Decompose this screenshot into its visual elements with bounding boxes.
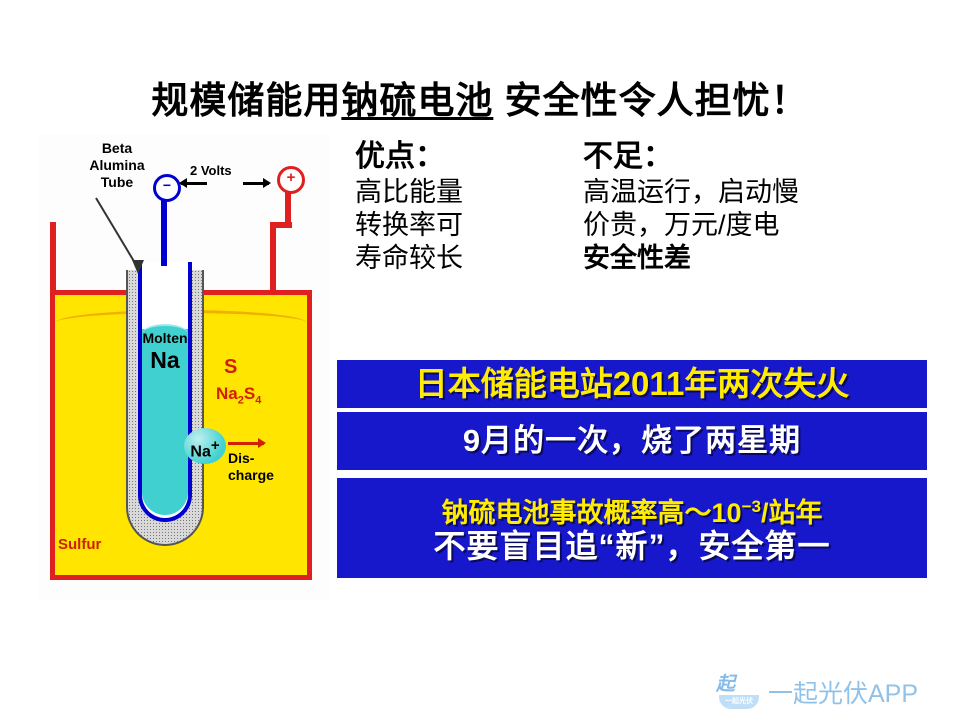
sulfur-symbol-label: S	[224, 356, 237, 379]
sulfur-label: Sulfur	[58, 536, 101, 553]
sodium-polysulfide-label: Na2S4	[216, 384, 261, 406]
sodium-symbol-label: Na	[134, 347, 196, 374]
pros-column: 优点： 高比能量 转换率可 寿命较长	[355, 138, 580, 275]
sodium-ion-bubble: Na+	[184, 428, 226, 464]
september-fire-banner-text: 9月的一次，烧了两星期	[463, 424, 801, 458]
page-title-suffix: 安全性令人担忧！	[493, 80, 808, 121]
pros-item: 寿命较长	[355, 242, 580, 275]
discharge-line1: Dis-	[228, 450, 298, 467]
accident-rate-suffix: /站年	[761, 498, 823, 528]
accident-rate-exponent: −3	[742, 497, 761, 516]
negative-lead-wire	[161, 194, 167, 266]
molten-label: Molten	[134, 330, 196, 346]
page-title-prefix: 规模储能用	[151, 80, 341, 121]
page-title: 规模储能用钠硫电池 安全性令人担忧！	[0, 70, 960, 124]
voltage-arrow-left-icon	[181, 182, 207, 185]
cons-item: 价贵，万元/度电	[583, 209, 943, 242]
accident-rate-prefix: 钠硫电池事故概率高～10	[442, 498, 742, 528]
discharge-label: Dis- charge	[228, 450, 298, 484]
na2s4-na: Na	[216, 384, 238, 403]
discharge-line2: charge	[228, 467, 298, 484]
sodium-sulfur-battery-diagram: − + 2 Volts Beta Alumina Tube Molten Na …	[38, 134, 330, 600]
na2s4-s: S	[244, 384, 255, 403]
voltage-label: 2 Volts	[190, 163, 232, 178]
watermark-text: 一起光伏APP	[768, 674, 918, 710]
safety-first-text: 不要盲目追“新”，安全第一	[433, 528, 830, 564]
pros-heading: 优点：	[355, 138, 580, 176]
pros-item: 转换率可	[355, 209, 580, 242]
accident-rate-text: 钠硫电池事故概率高～10−3/站年	[442, 492, 823, 528]
na2s4-sub4: 4	[255, 394, 261, 406]
cons-item: 安全性差	[583, 242, 943, 275]
beta-tube-pointer-arrow-icon	[94, 196, 154, 280]
sodium-ion-charge: +	[211, 437, 220, 454]
discharge-arrow-icon	[228, 442, 264, 445]
positive-lead-wire-down	[270, 222, 276, 294]
page-title-underlined-term: 钠硫电池	[341, 80, 493, 121]
september-fire-banner: 9月的一次，烧了两星期	[337, 412, 927, 470]
beta-label-line2: Alumina	[62, 157, 172, 174]
beta-label-line1: Beta	[62, 140, 172, 157]
cons-column: 不足： 高温运行，启动慢 价贵，万元/度电 安全性差	[583, 138, 943, 275]
beta-label-line3: Tube	[62, 174, 172, 191]
cons-heading: 不足：	[583, 138, 943, 176]
cell-left-red-wall	[50, 222, 56, 294]
watermark: 一起光伏 起 一起光伏APP	[716, 672, 918, 712]
positive-terminal-icon: +	[277, 166, 305, 194]
cons-item: 高温运行，启动慢	[583, 176, 943, 209]
pros-item: 高比能量	[355, 176, 580, 209]
beta-alumina-tube-label: Beta Alumina Tube	[62, 140, 172, 191]
logo-mark-label: 起	[716, 673, 762, 697]
sodium-ion-label: Na	[190, 443, 210, 460]
voltage-arrow-right-icon	[243, 182, 269, 185]
japan-fire-banner: 日本储能电站2011年两次失火	[337, 360, 927, 408]
japan-fire-banner-text: 日本储能电站2011年两次失火	[415, 366, 850, 402]
accident-rate-banner: 钠硫电池事故概率高～10−3/站年 不要盲目追“新”，安全第一	[337, 478, 927, 578]
yiqi-guangfu-logo-icon: 一起光伏 起	[716, 675, 762, 709]
logo-badge-label: 一起光伏	[719, 695, 759, 709]
